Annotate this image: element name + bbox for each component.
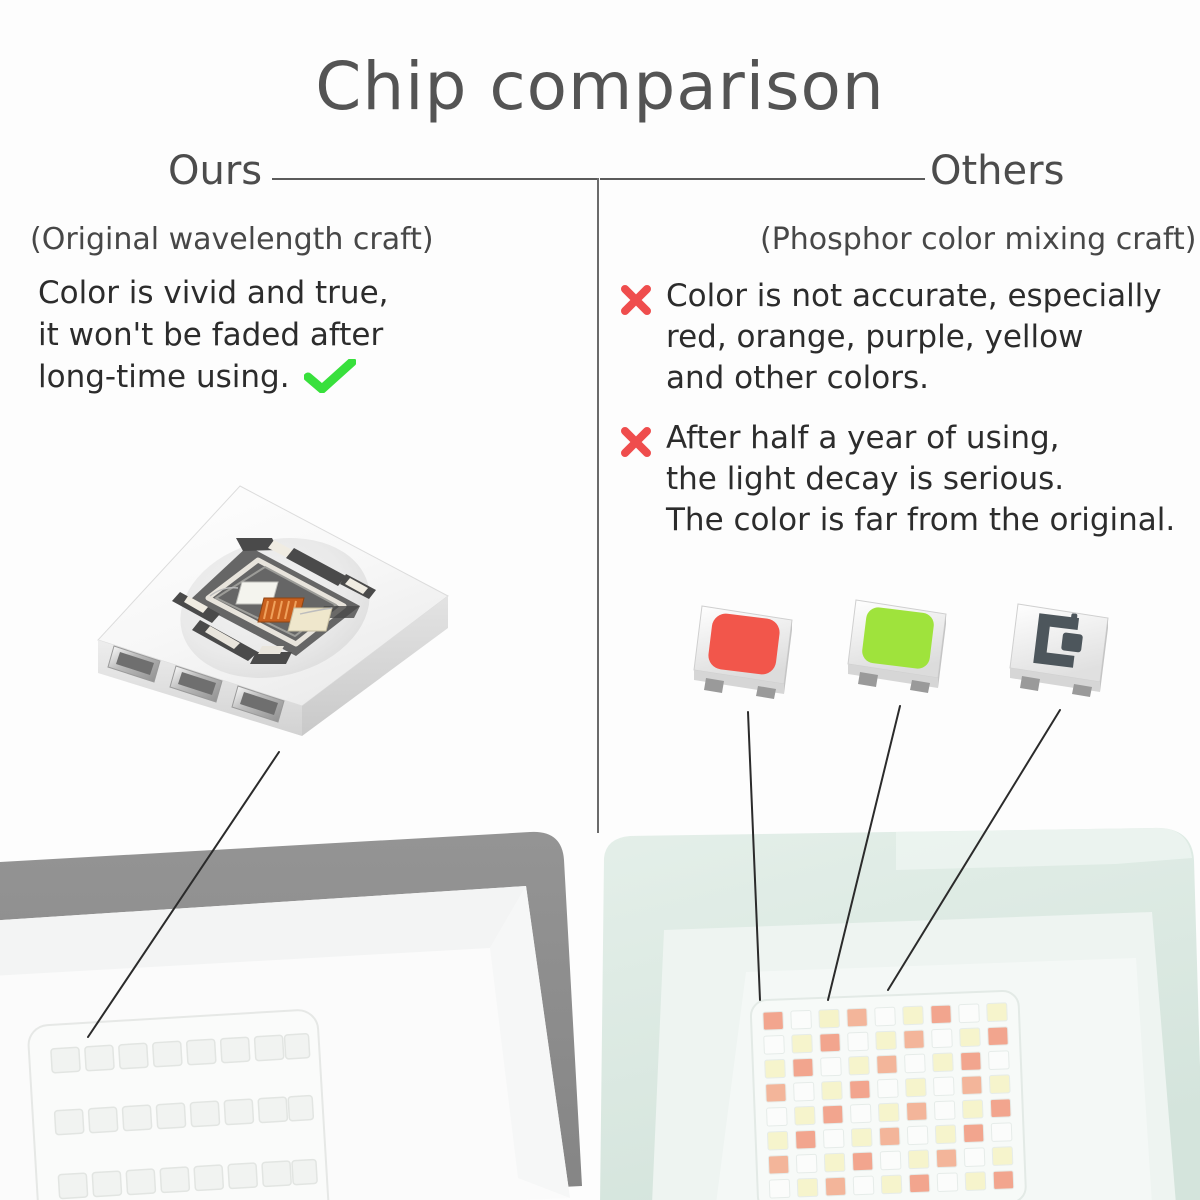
red-x-icon <box>620 426 652 458</box>
gray-led-floodlight <box>0 826 590 1200</box>
ours-line-3-with-check: long-time using. <box>38 356 558 398</box>
heading-rule-left <box>272 178 597 180</box>
ours-line-1: Color is vivid and true, <box>38 272 558 314</box>
heading-rule-right <box>600 178 925 180</box>
others-bullet-2: After half a year of using, the light de… <box>620 418 1190 541</box>
others-bullet-1-text: Color is not accurate, especially red, o… <box>666 276 1162 399</box>
infographic-root: Chip comparison Ours Others (Original wa… <box>0 0 1200 1200</box>
others-b1-line-1: Color is not accurate, especially <box>666 278 1162 314</box>
ours-body-text: Color is vivid and true, it won't be fad… <box>38 272 558 398</box>
mint-led-floodlight <box>596 812 1200 1200</box>
ours-line-3: long-time using. <box>38 359 290 395</box>
others-bullet-1: Color is not accurate, especially red, o… <box>620 276 1190 399</box>
column-divider <box>597 178 599 833</box>
red-x-icon <box>620 284 652 316</box>
green-check-icon <box>304 359 356 393</box>
column-heading-ours: Ours <box>168 148 262 194</box>
others-b2-line-1: After half a year of using, <box>666 420 1060 456</box>
page-title: Chip comparison <box>0 48 1200 125</box>
rgb-smd-5050-led-package-illustration <box>88 468 458 768</box>
green-phosphor-smd-chip <box>838 592 962 696</box>
others-b1-line-2: red, orange, purple, yellow <box>666 319 1083 355</box>
red-phosphor-smd-chip <box>684 598 808 702</box>
column-heading-others: Others <box>930 148 1064 194</box>
white-phosphor-smd-chip <box>1000 596 1124 700</box>
others-b2-line-2: the light decay is serious. <box>666 461 1064 497</box>
others-b1-line-3: and other colors. <box>666 360 929 396</box>
ours-line-2: it won't be faded after <box>38 314 558 356</box>
subcaption-others: (Phosphor color mixing craft) <box>760 222 1196 257</box>
subcaption-ours: (Original wavelength craft) <box>30 222 434 257</box>
others-b2-line-3: The color is far from the original. <box>666 502 1175 538</box>
others-bullet-2-text: After half a year of using, the light de… <box>666 418 1175 541</box>
